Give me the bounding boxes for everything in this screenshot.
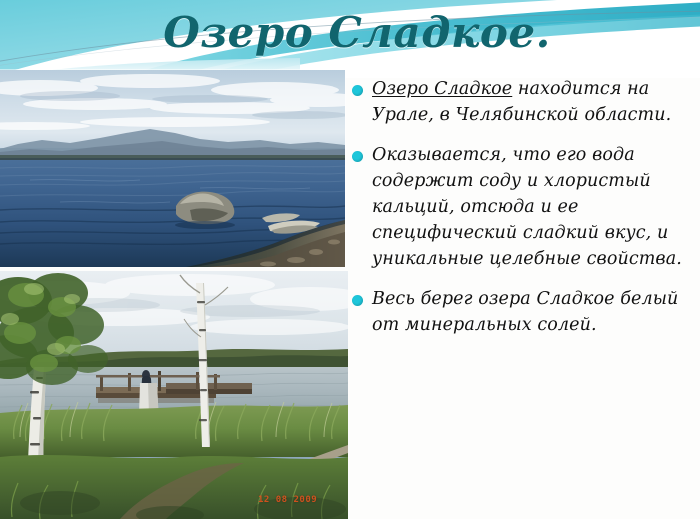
list-item: Весь берег озера Сладкое белый от минера… [352,286,696,338]
camera-timestamp: 12 08 2009 [258,495,317,505]
bullet-text-1: Озеро Сладкое находится на Урале, в Челя… [372,76,696,128]
bullet-text-2: Оказывается, что его вода содержит соду … [372,142,696,272]
presentation-slide: Озеро Сладкое. [0,0,700,519]
slide-header-banner: Озеро Сладкое. [0,0,700,78]
bullet-dot-icon [352,295,363,306]
lake-shore-pier-photo [0,271,348,519]
bullet-text-3: Весь берег озера Сладкое белый от минера… [372,286,696,338]
slide-title: Озеро Сладкое. [0,2,700,64]
bullet-dot-icon [352,85,363,96]
list-item: Озеро Сладкое находится на Урале, в Челя… [352,76,696,128]
bullet-1-underlined-term: Озеро Сладкое [372,79,512,99]
lake-panorama-photo [0,70,345,267]
bullet-list: Озеро Сладкое находится на Урале, в Челя… [352,76,696,506]
lake-panorama-illustration [0,70,345,267]
bullet-dot-icon [352,151,363,162]
lake-shore-pier-illustration [0,271,348,519]
list-item: Оказывается, что его вода содержит соду … [352,142,696,272]
